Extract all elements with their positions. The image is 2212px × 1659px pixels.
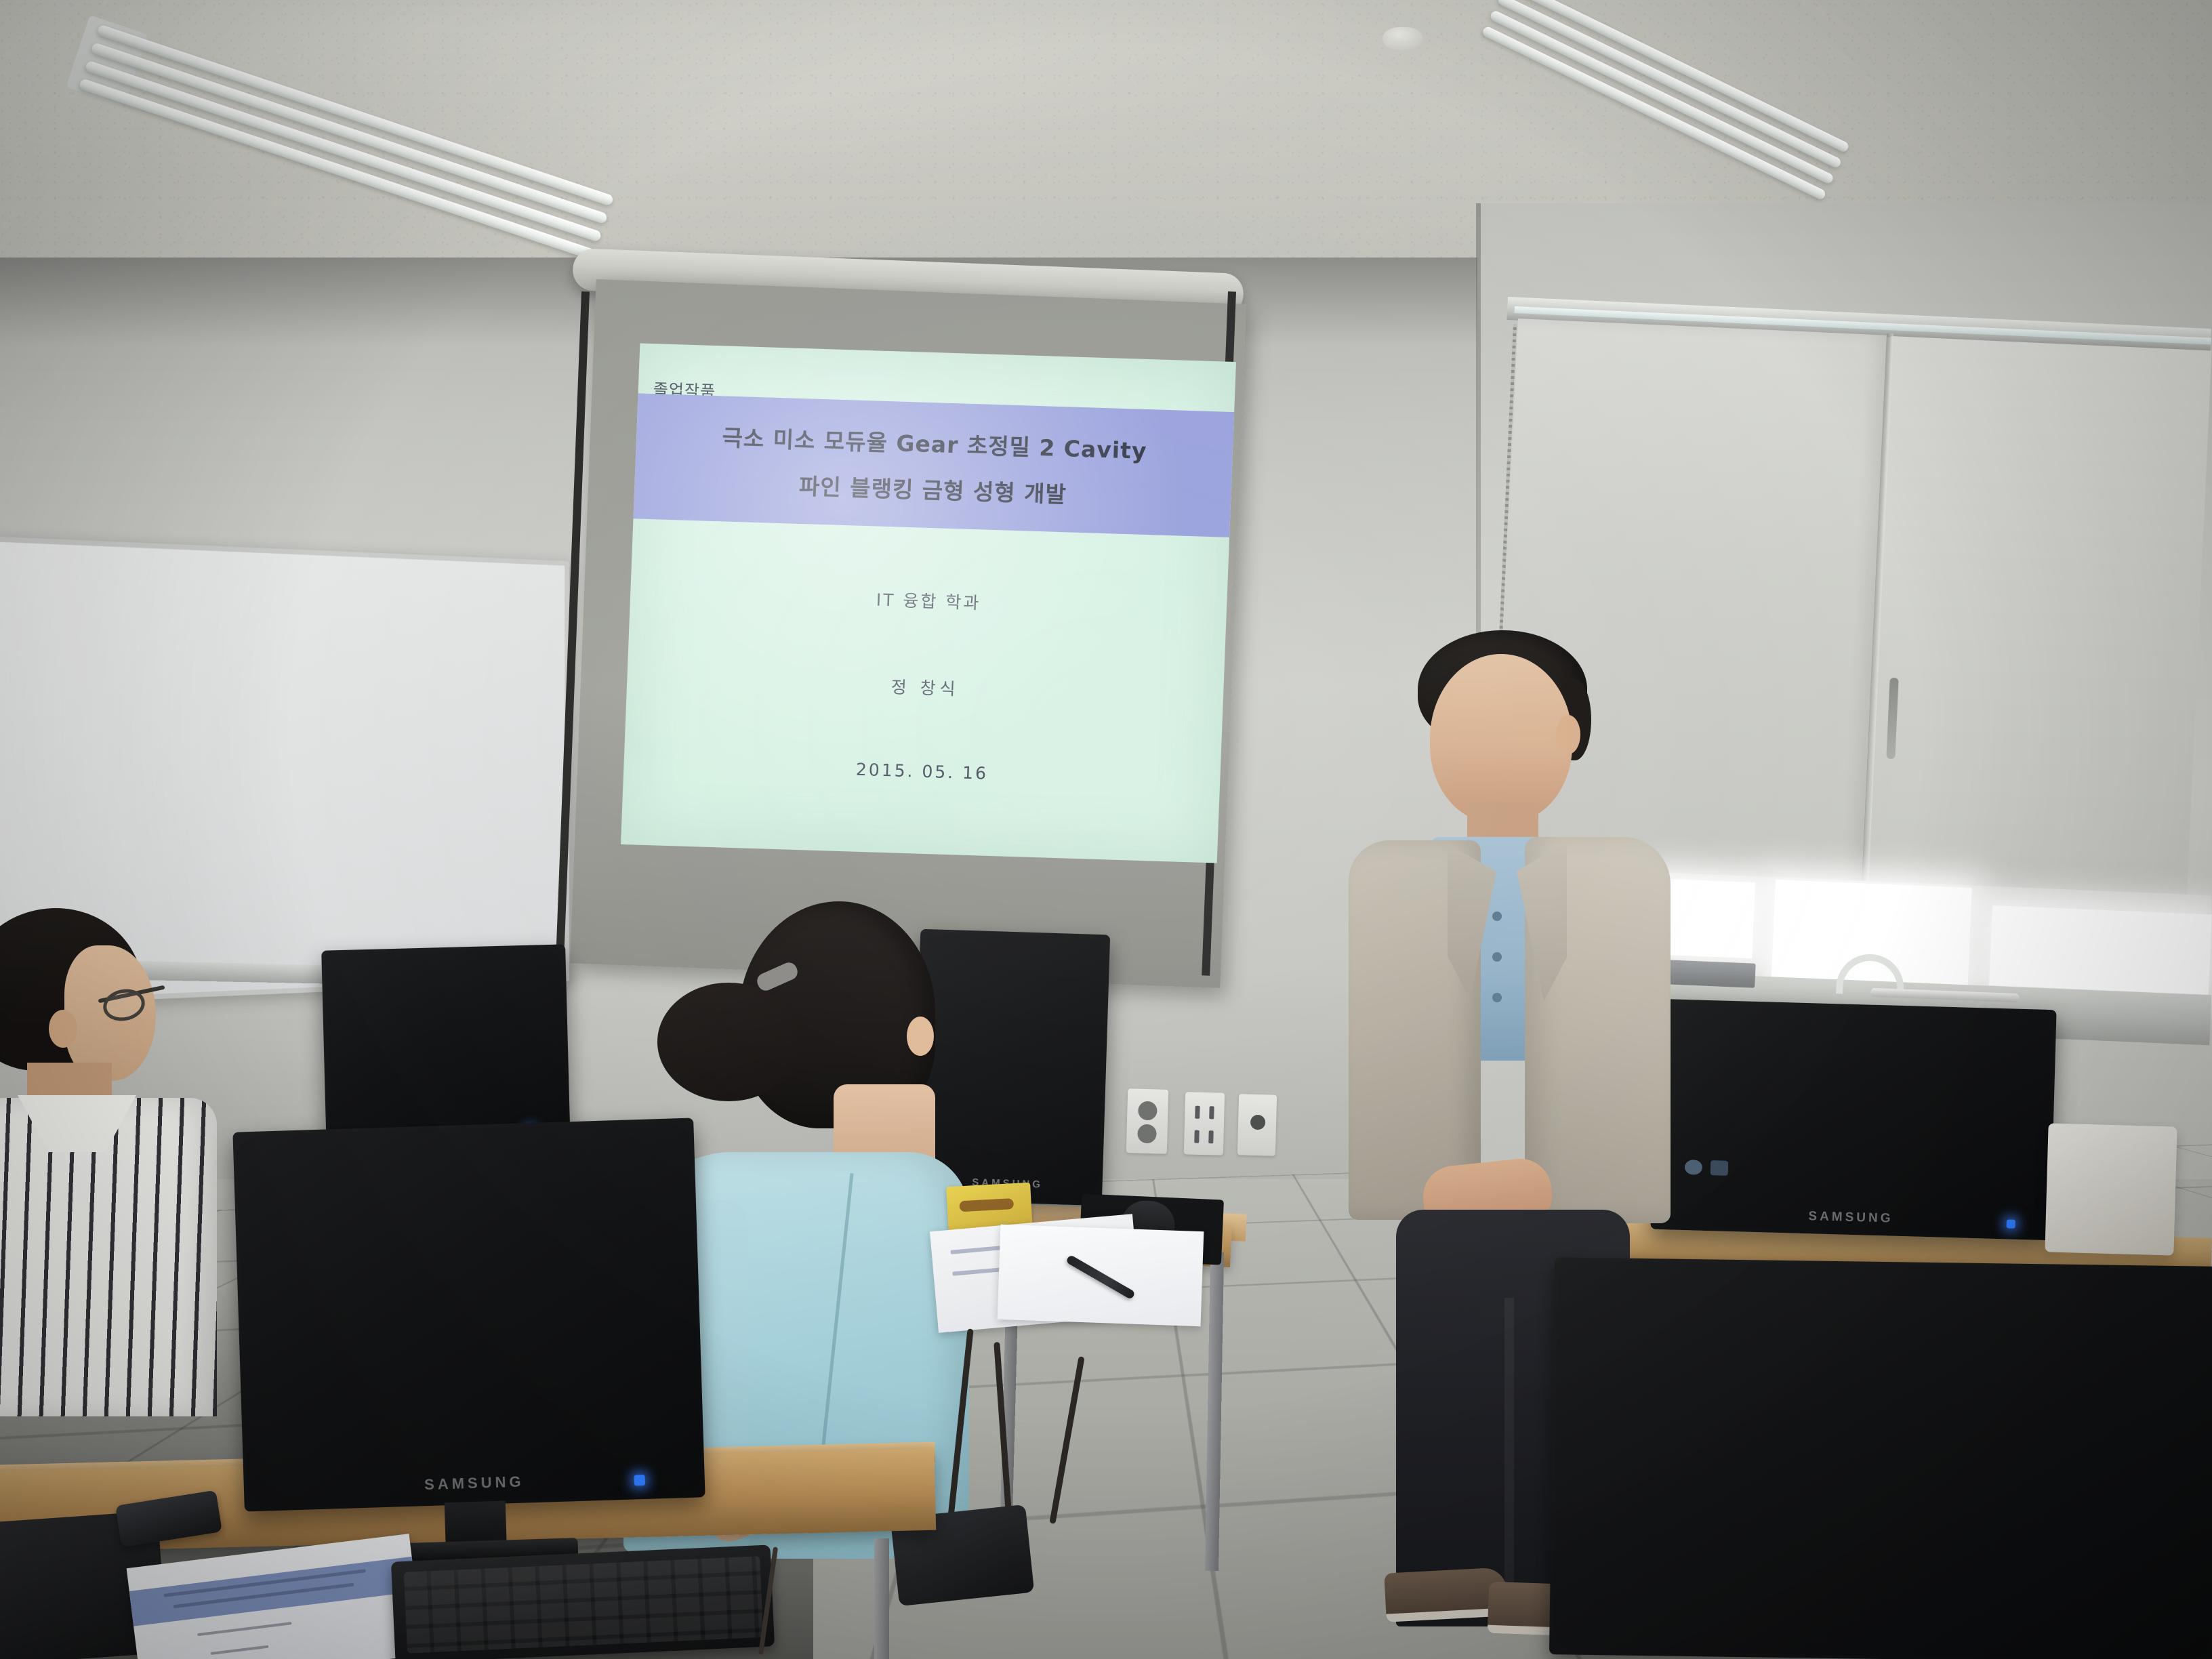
- attendee-center-hair-bun: [657, 983, 800, 1101]
- attendee-left-ear: [49, 1010, 77, 1048]
- slide-department: IT 융합 학과: [876, 587, 981, 615]
- power-led-icon: [634, 1475, 645, 1486]
- desk-front-leg: [874, 1538, 889, 1659]
- monitor-brand-label: SAMSUNG: [1808, 1209, 1893, 1226]
- monitor-right-far[interactable]: SAMSUNG: [1650, 999, 2056, 1240]
- projected-slide: 졸업작품 극소 미소 모듀율 Gear 초정밀 2 Cavity 파인 블랭킹 …: [621, 343, 1236, 863]
- roller-blind-right[interactable]: [1866, 336, 2212, 906]
- keyboard[interactable]: [391, 1544, 775, 1659]
- presenter-ear: [1556, 715, 1580, 754]
- smoke-detector-icon: [1382, 27, 1423, 50]
- outlet-flat: [1184, 1092, 1225, 1155]
- slide-date: 2015. 05. 16: [855, 760, 988, 783]
- monitor-brand-label: SAMSUNG: [424, 1473, 525, 1494]
- slide-presenter-name: 정 창식: [890, 674, 960, 700]
- slide-title-line-2: 파인 블랭킹 금형 성형 개발: [798, 468, 1067, 508]
- window-pane: [1989, 905, 2212, 994]
- wall-port: [1237, 1094, 1277, 1155]
- monitor-front-left[interactable]: SAMSUNG: [232, 1118, 705, 1511]
- presenter-head: [1430, 654, 1572, 823]
- attendee-center-ear: [907, 1017, 934, 1056]
- outlet-round: [1126, 1088, 1168, 1154]
- classroom-scene: 졸업작품 극소 미소 모듀율 Gear 초정밀 2 Cavity 파인 블랭킹 …: [0, 0, 2212, 1659]
- slide-title-line-1: 극소 미소 모듀율 Gear 초정밀 2 Cavity: [722, 419, 1148, 466]
- monitor-right-near[interactable]: [1549, 1257, 2212, 1659]
- power-led-icon: [2007, 1219, 2015, 1228]
- slide-title-band: 극소 미소 모듀율 Gear 초정밀 2 Cavity 파인 블랭킹 금형 성형…: [633, 393, 1234, 537]
- side-cabinet: [2045, 1123, 2177, 1255]
- slide-body: IT 융합 학과 정 창식 2015. 05. 16: [623, 546, 1228, 790]
